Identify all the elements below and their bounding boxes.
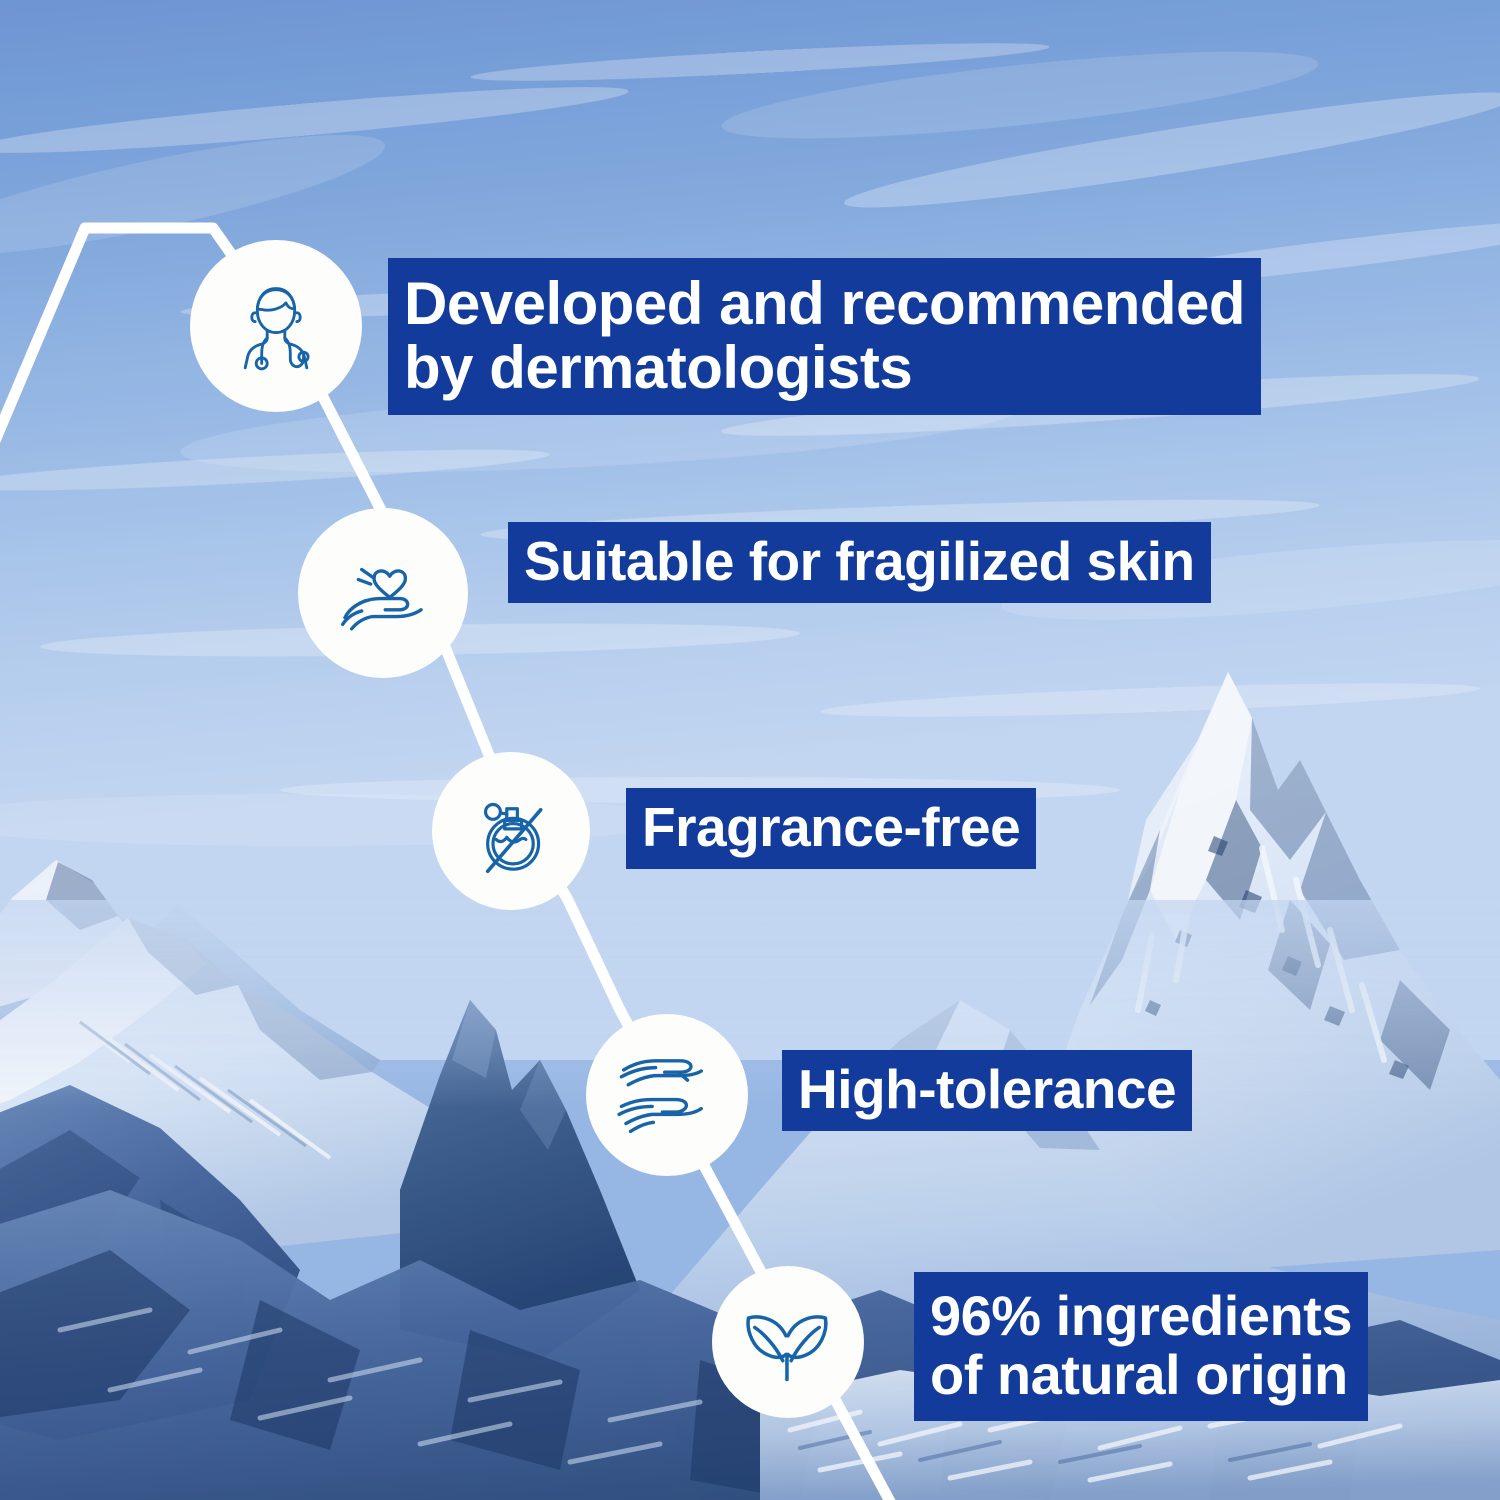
benefit-label-natural-origin: 96% ingredients of natural origin <box>914 1272 1368 1421</box>
benefit-icon-bubble-natural-origin <box>712 1266 864 1418</box>
benefit-icon-bubble-high-tolerance <box>586 1014 748 1176</box>
benefit-label-high-tolerance: High-tolerance <box>782 1050 1192 1131</box>
benefit-icon-bubble-fragilized-skin <box>298 508 468 678</box>
benefit-icon-bubble-dermatologists <box>190 240 362 412</box>
hand-heart-icon <box>327 537 439 649</box>
doctor-icon <box>221 271 331 381</box>
benefit-icon-bubble-fragrance-free <box>432 752 590 910</box>
two-hands-icon <box>610 1038 724 1152</box>
infographic-canvas: Developed and recommended by dermatologi… <box>0 0 1500 1500</box>
benefit-label-fragilized-skin: Suitable for fragilized skin <box>508 522 1211 603</box>
benefit-label-fragrance-free: Fragrance-free <box>626 788 1036 869</box>
leaves-icon <box>736 1290 840 1394</box>
no-perfume-icon <box>458 778 564 884</box>
benefit-label-dermatologists: Developed and recommended by dermatologi… <box>388 258 1261 415</box>
